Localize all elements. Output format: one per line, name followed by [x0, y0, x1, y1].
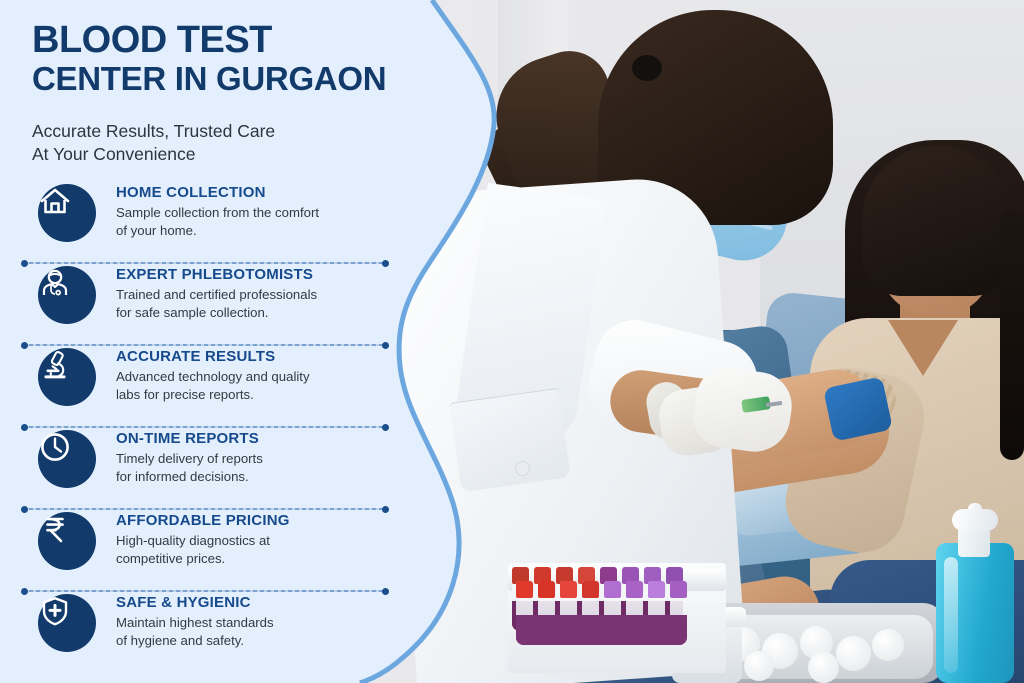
headline-line-1: BLOOD TEST	[32, 19, 272, 61]
feature-description: Maintain highest standardsof hygiene and…	[116, 614, 366, 649]
infographic-poster: BLOOD TEST CENTER IN GURGAON Accurate Re…	[0, 0, 1024, 683]
cotton-ball	[808, 652, 839, 683]
doctor-stethoscope-icon	[38, 266, 96, 324]
feature-item-accurate-results[interactable]: ACCURATE RESULTS Advanced technology and…	[30, 346, 402, 426]
subheadline-line-1: Accurate Results, Trusted Care	[32, 121, 275, 141]
feature-title: ACCURATE RESULTS	[116, 348, 275, 365]
cotton-ball	[744, 651, 774, 681]
feature-list: HOME COLLECTION Sample collection from t…	[30, 182, 402, 672]
feature-title: HOME COLLECTION	[116, 184, 266, 201]
feature-item-on-time-reports[interactable]: ON-TIME REPORTS Timely delivery of repor…	[30, 428, 402, 508]
sanitizer-highlight	[944, 557, 958, 673]
patient-hair-front	[862, 146, 1012, 296]
feature-item-safe-hygienic[interactable]: SAFE & HYGIENIC Maintain highest standar…	[30, 592, 402, 672]
feature-title: AFFORDABLE PRICING	[116, 512, 290, 529]
shield-cross-icon	[38, 594, 96, 652]
feature-item-affordable-pricing[interactable]: AFFORDABLE PRICING High-quality diagnost…	[30, 510, 402, 590]
feature-description: Timely delivery of reportsfor informed d…	[116, 450, 366, 485]
feature-title: SAFE & HYGIENIC	[116, 594, 251, 611]
patient-hair-strand	[1000, 210, 1024, 460]
clock-icon	[38, 430, 96, 488]
subheadline: Accurate Results, Trusted Care At Your C…	[32, 120, 362, 166]
cotton-ball	[872, 629, 904, 661]
page-title: BLOOD TEST CENTER IN GURGAON	[32, 22, 402, 96]
cotton-ball	[836, 636, 871, 671]
feature-description: High-quality diagnostics atcompetitive p…	[116, 532, 366, 567]
blood-tube	[670, 581, 687, 645]
subheadline-line-2: At Your Convenience	[32, 144, 195, 164]
headline-line-2: CENTER IN GURGAON	[32, 63, 402, 95]
feature-title: ON-TIME REPORTS	[116, 430, 259, 447]
feature-description: Advanced technology and qualitylabs for …	[116, 368, 366, 403]
rupee-icon	[38, 512, 96, 570]
hair-tie	[632, 55, 662, 81]
feature-description: Trained and certified professionalsfor s…	[116, 286, 366, 321]
feature-title: EXPERT PHLEBOTOMISTS	[116, 266, 313, 283]
feature-item-home-collection[interactable]: HOME COLLECTION Sample collection from t…	[30, 182, 402, 262]
microscope-icon	[38, 348, 96, 406]
feature-description: Sample collection from the comfortof you…	[116, 204, 366, 239]
sanitizer-pump-head	[952, 509, 998, 531]
info-panel: BLOOD TEST CENTER IN GURGAON Accurate Re…	[0, 0, 560, 683]
home-icon	[38, 184, 96, 242]
feature-item-expert-phlebotomists[interactable]: EXPERT PHLEBOTOMISTS Trained and certifi…	[30, 264, 402, 344]
